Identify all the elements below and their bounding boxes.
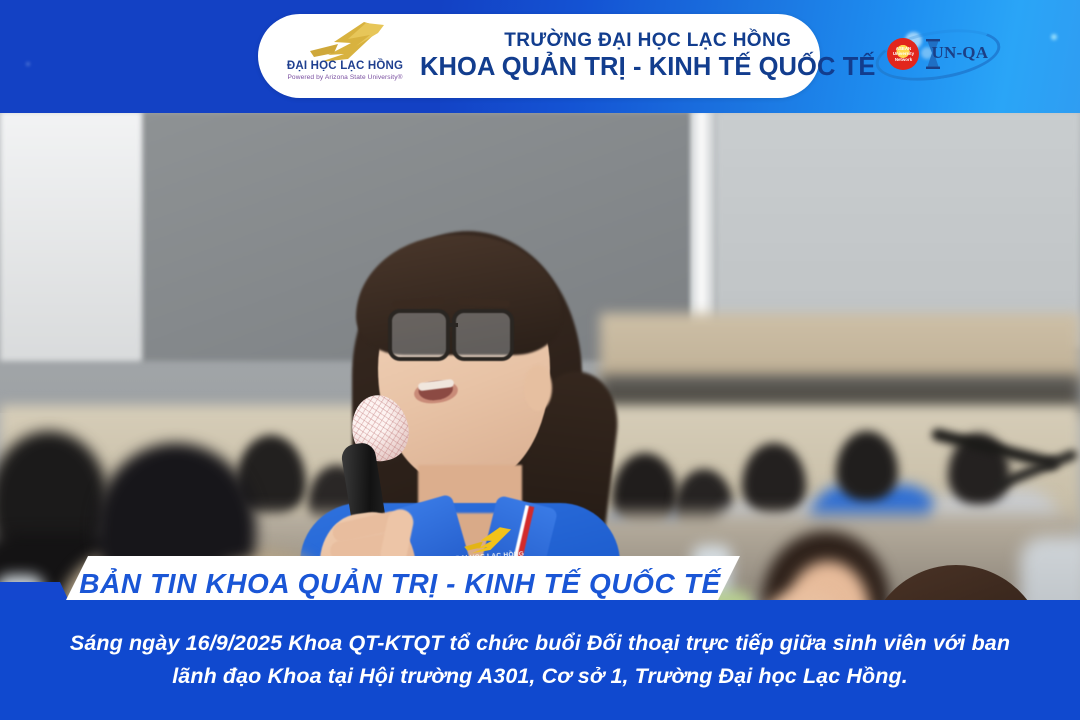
aun-qa-badge: ASEAN University Network UN-QA <box>879 25 1001 87</box>
bokeh-dot <box>26 62 30 66</box>
speaker-ear <box>524 365 552 411</box>
faculty-title: KHOA QUẢN TRỊ - KINH TẾ QUỐC TẾ <box>420 53 875 82</box>
foreground-object <box>700 591 752 600</box>
photo-wall-right <box>716 113 1080 347</box>
poster-header: ĐẠI HỌC LẠC HỒNG Powered by Arizona Stat… <box>0 0 1080 113</box>
foreground-water-bottle <box>0 575 44 600</box>
photo-wall-left <box>0 113 142 361</box>
poster-footer: Sáng ngày 16/9/2025 Khoa QT-KTQT tổ chức… <box>0 600 1080 720</box>
university-title: TRƯỜNG ĐẠI HỌC LẠC HỒNG <box>420 30 875 52</box>
event-photo: ĐẠI HỌC LẠC HỒNG KHOA QT- KTQT <box>0 113 1080 600</box>
speaker-glasses-right-lens <box>452 309 514 361</box>
photo-wall-band <box>600 313 1080 383</box>
lhu-bird-logo-icon <box>304 21 390 63</box>
speaker-glasses-left-lens <box>388 309 450 361</box>
university-logo-subtitle: Powered by Arizona State University® <box>270 74 420 81</box>
asean-seal-text: ASEAN University Network <box>887 46 919 62</box>
university-logo: ĐẠI HỌC LẠC HỒNG Powered by Arizona Stat… <box>270 18 420 94</box>
news-poster: ĐẠI HỌC LẠC HỒNG Powered by Arizona Stat… <box>0 0 1080 720</box>
foreground-object <box>256 593 302 600</box>
header-title-pill: ĐẠI HỌC LẠC HỒNG Powered by Arizona Stat… <box>258 14 820 98</box>
speaker-glasses-bridge <box>448 323 458 327</box>
speaker-finger <box>332 576 396 595</box>
aun-qa-label: UN-QA <box>931 43 988 63</box>
bokeh-dot <box>1051 34 1057 40</box>
lhu-bird-logo-icon <box>460 525 518 555</box>
header-titles: TRƯỜNG ĐẠI HỌC LẠC HỒNG KHOA QUẢN TRỊ - … <box>420 30 879 82</box>
footer-caption: Sáng ngày 16/9/2025 Khoa QT-KTQT tổ chức… <box>50 627 1030 694</box>
university-logo-name: ĐẠI HỌC LẠC HỒNG <box>270 60 420 72</box>
shirt-faculty-logo: ĐẠI HỌC LẠC HỒNG KHOA QT- KTQT <box>436 523 544 592</box>
foreground-person-body <box>1020 537 1080 600</box>
